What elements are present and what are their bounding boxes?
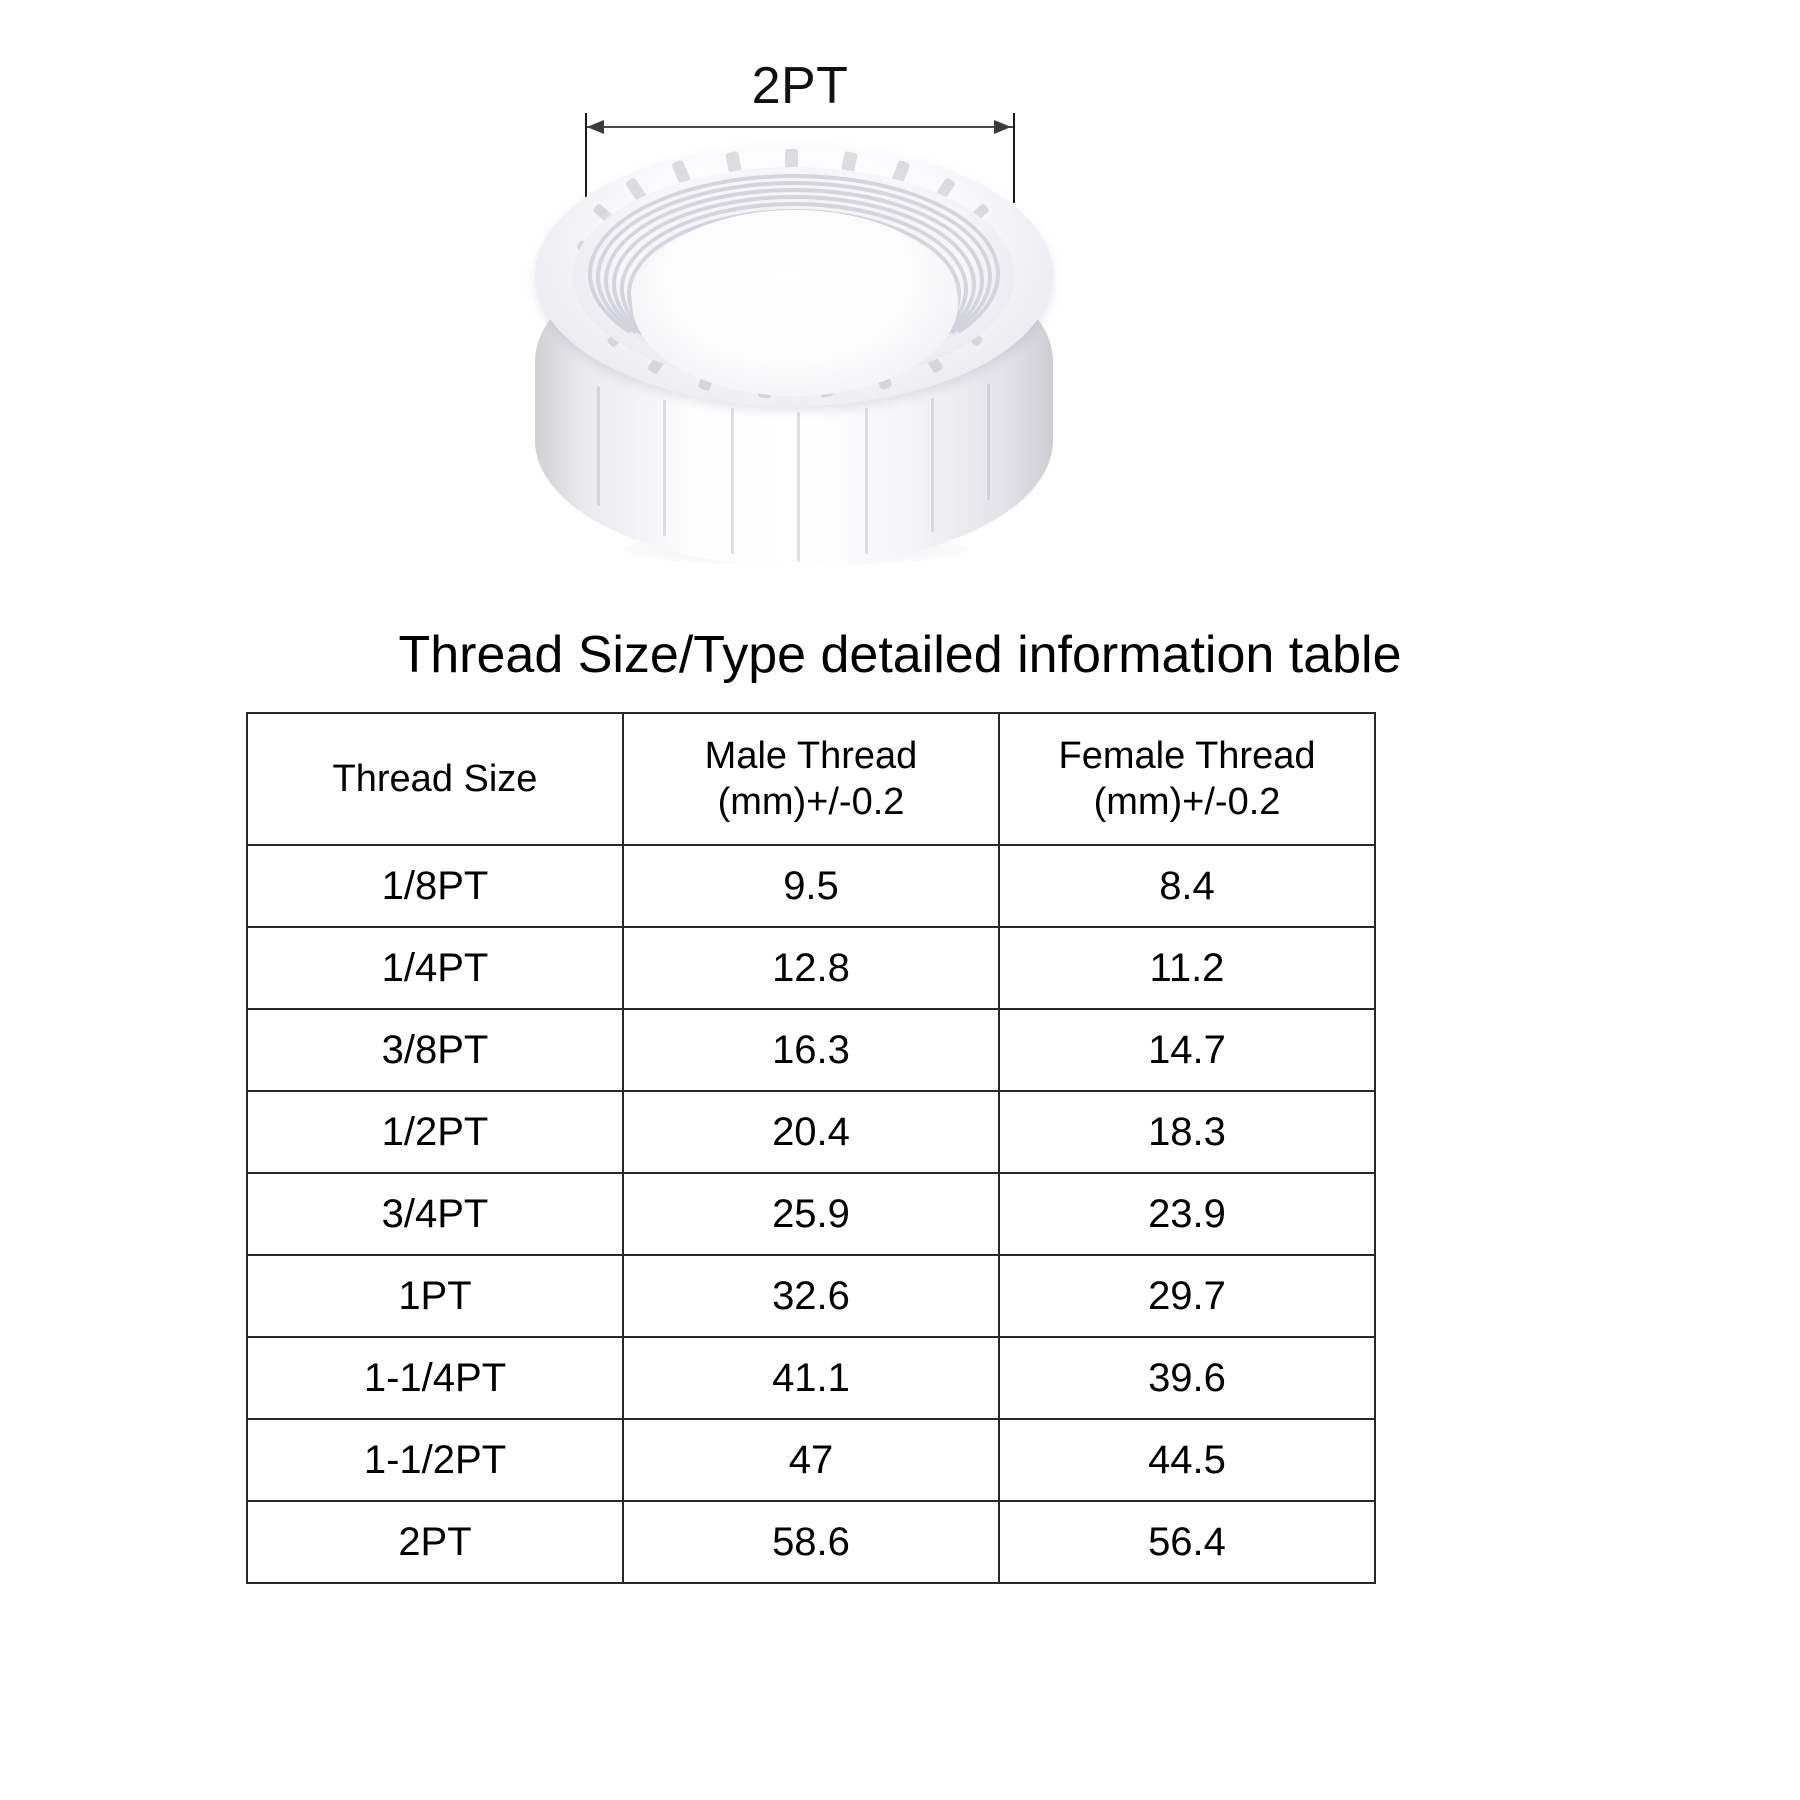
cell-male-thread: 32.6	[623, 1255, 999, 1337]
skirt-rib	[865, 408, 868, 554]
skirt-rib	[663, 400, 666, 536]
cell-male-thread: 16.3	[623, 1009, 999, 1091]
cell-male-thread: 20.4	[623, 1091, 999, 1173]
cell-female-thread: 18.3	[999, 1091, 1375, 1173]
table-row: 1/4PT 12.8 11.2	[247, 927, 1375, 1009]
product-image-threaded-cap	[528, 128, 1068, 588]
table-row: 2PT 58.6 56.4	[247, 1501, 1375, 1583]
cell-thread-size: 1/8PT	[247, 845, 623, 927]
cell-female-thread: 44.5	[999, 1419, 1375, 1501]
cell-male-thread: 58.6	[623, 1501, 999, 1583]
cap-inner-bore	[632, 210, 958, 396]
column-header-female-thread: Female Thread (mm)+/-0.2	[999, 713, 1375, 845]
cell-female-thread: 11.2	[999, 927, 1375, 1009]
cell-male-thread: 12.8	[623, 927, 999, 1009]
skirt-rib	[731, 408, 734, 554]
cell-thread-size: 1PT	[247, 1255, 623, 1337]
table-row: 3/4PT 25.9 23.9	[247, 1173, 1375, 1255]
table-row: 1-1/2PT 47 44.5	[247, 1419, 1375, 1501]
skirt-rib	[597, 386, 600, 506]
cell-male-thread: 25.9	[623, 1173, 999, 1255]
table-body: 1/8PT 9.5 8.4 1/4PT 12.8 11.2 3/8PT 16.3…	[247, 845, 1375, 1583]
rim-notch	[785, 149, 798, 168]
cell-thread-size: 2PT	[247, 1501, 623, 1583]
product-figure: 2PT	[0, 0, 1800, 620]
thread-spec-table-container: Thread Size Male Thread (mm)+/-0.2 Femal…	[246, 712, 1374, 1584]
column-header-male-thread: Male Thread (mm)+/-0.2	[623, 713, 999, 845]
skirt-rib	[797, 412, 800, 562]
table-row: 1/8PT 9.5 8.4	[247, 845, 1375, 927]
cell-male-thread: 9.5	[623, 845, 999, 927]
skirt-rib	[987, 384, 990, 500]
cell-female-thread: 56.4	[999, 1501, 1375, 1583]
cell-thread-size: 1-1/2PT	[247, 1419, 623, 1501]
column-header-female-thread-line1: Female Thread	[1059, 735, 1316, 777]
cell-female-thread: 23.9	[999, 1173, 1375, 1255]
cell-male-thread: 47	[623, 1419, 999, 1501]
table-row: 3/8PT 16.3 14.7	[247, 1009, 1375, 1091]
table-row: 1PT 32.6 29.7	[247, 1255, 1375, 1337]
cell-female-thread: 39.6	[999, 1337, 1375, 1419]
cell-female-thread: 8.4	[999, 845, 1375, 927]
cell-thread-size: 3/4PT	[247, 1173, 623, 1255]
column-header-male-thread-line2: (mm)+/-0.2	[718, 781, 905, 823]
thread-spec-table: Thread Size Male Thread (mm)+/-0.2 Femal…	[246, 712, 1376, 1584]
cell-thread-size: 1-1/4PT	[247, 1337, 623, 1419]
cell-thread-size: 3/8PT	[247, 1009, 623, 1091]
cell-male-thread: 41.1	[623, 1337, 999, 1419]
cell-female-thread: 29.7	[999, 1255, 1375, 1337]
column-header-thread-size-label: Thread Size	[333, 758, 538, 800]
column-header-male-thread-line1: Male Thread	[705, 735, 918, 777]
table-header-row: Thread Size Male Thread (mm)+/-0.2 Femal…	[247, 713, 1375, 845]
cell-female-thread: 14.7	[999, 1009, 1375, 1091]
column-header-female-thread-line2: (mm)+/-0.2	[1094, 781, 1281, 823]
cell-thread-size: 1/2PT	[247, 1091, 623, 1173]
table-header: Thread Size Male Thread (mm)+/-0.2 Femal…	[247, 713, 1375, 845]
table-title: Thread Size/Type detailed information ta…	[0, 624, 1800, 686]
table-row: 1/2PT 20.4 18.3	[247, 1091, 1375, 1173]
column-header-thread-size: Thread Size	[247, 713, 623, 845]
cell-thread-size: 1/4PT	[247, 927, 623, 1009]
table-row: 1-1/4PT 41.1 39.6	[247, 1337, 1375, 1419]
dimension-label: 2PT	[585, 55, 1015, 117]
skirt-rib	[931, 398, 934, 532]
